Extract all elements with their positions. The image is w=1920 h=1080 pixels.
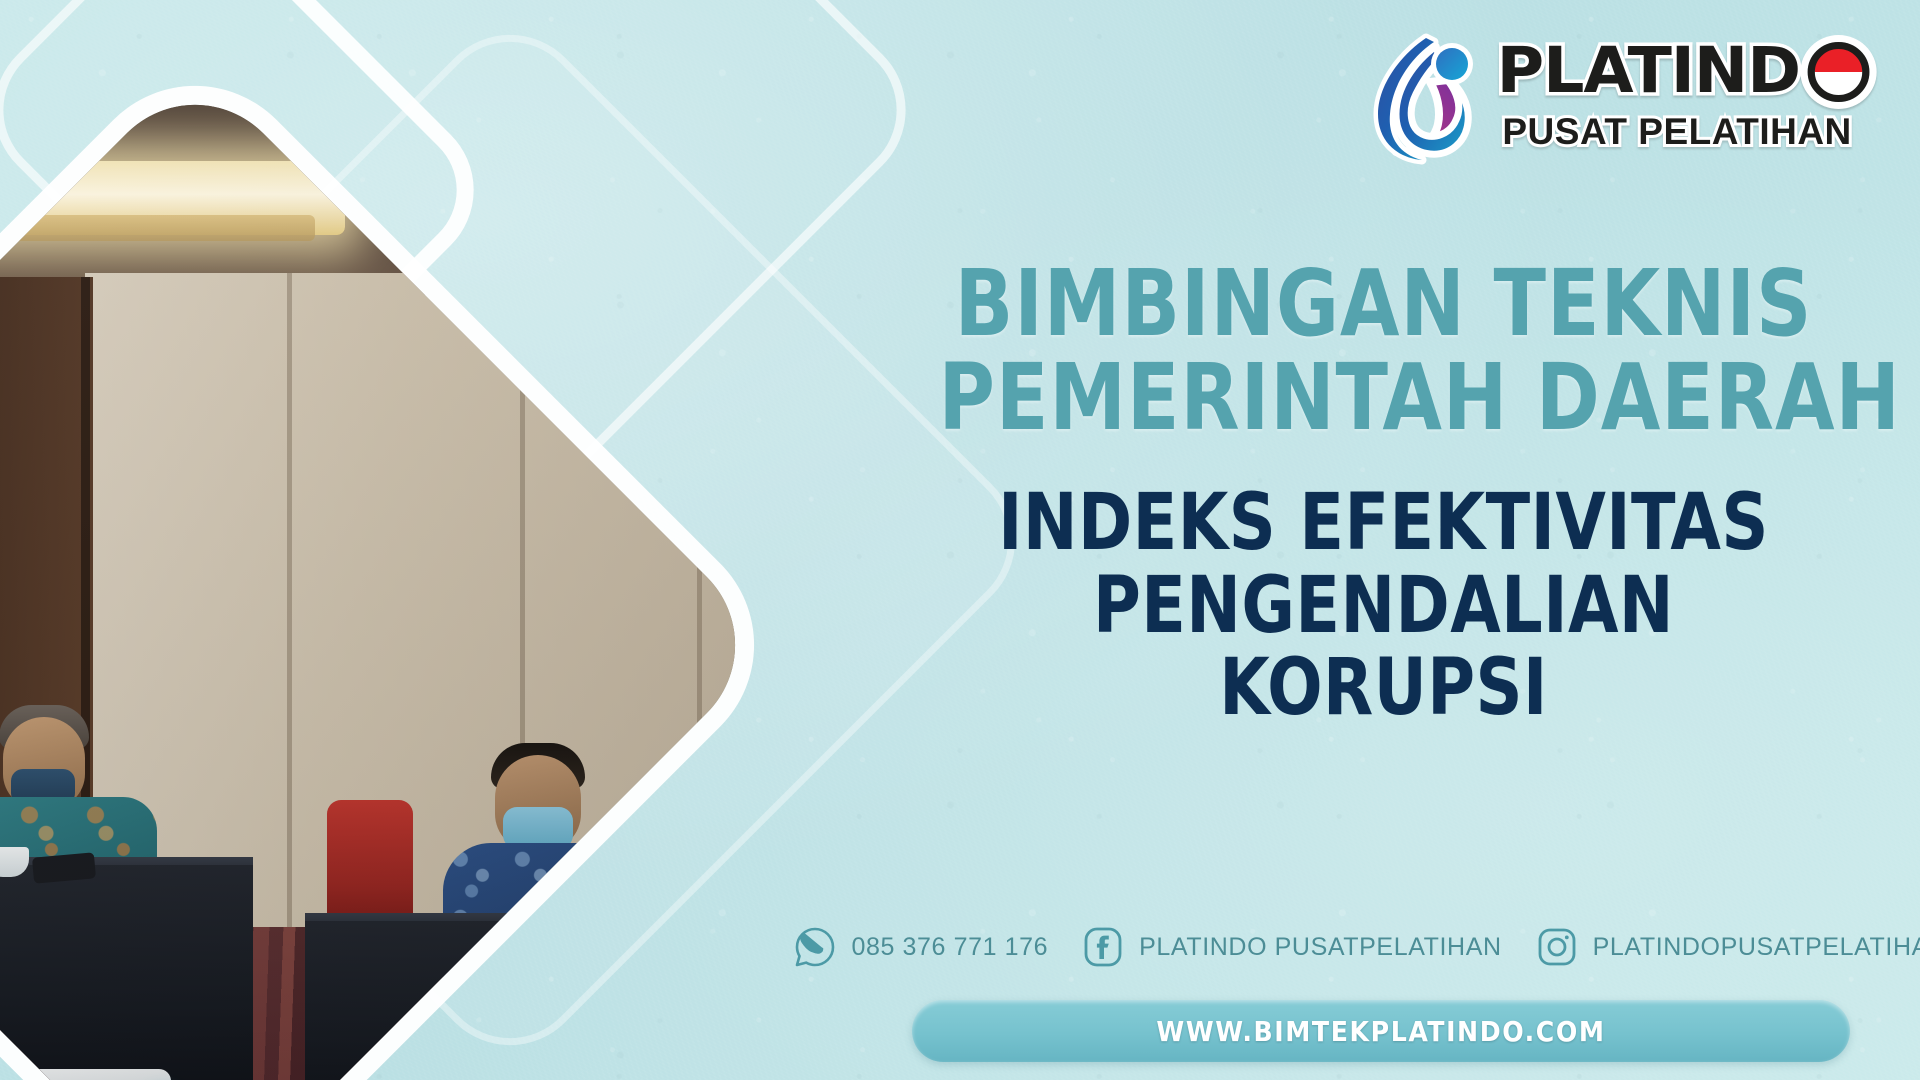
whatsapp-number: 085 376 771 176	[851, 933, 1048, 962]
promotional-banner: PLATIND PUSAT PELATIHAN BIMBINGAN TEKNIS…	[0, 0, 1920, 1080]
platindo-tagline: PUSAT PELATIHAN	[1502, 111, 1851, 153]
subtitle-line-2: PENGENDALIAN	[938, 565, 1828, 648]
subtitle-block: INDEKS EFEKTIVITAS PENGENDALIAN KORUPSI	[905, 482, 1862, 730]
platindo-wordmark: PLATIND	[1497, 42, 1869, 102]
headline-block: BIMBINGAN TEKNIS PEMERINTAH DAERAH INDEK…	[905, 258, 1862, 730]
photo-documents	[492, 990, 684, 1048]
facebook-handle: PLATINDO PUSATPELATIHAN	[1139, 933, 1501, 962]
photo-laptop	[679, 854, 775, 984]
wordmark-letters: PLATIND	[1497, 42, 1800, 101]
website-url: WWW.BIMTEKPLATINDO.COM	[1156, 1015, 1605, 1048]
website-button[interactable]: WWW.BIMTEKPLATINDO.COM	[912, 1000, 1850, 1062]
photo-document-print	[532, 1003, 629, 1030]
platindo-logo[interactable]: PLATIND PUSAT PELATIHAN	[1352, 28, 1864, 166]
whatsapp-icon	[794, 926, 836, 968]
facebook-icon	[1082, 926, 1124, 968]
headline-line-2: PEMERINTAH DAERAH	[938, 352, 1828, 444]
platindo-wordmark-block: PLATIND PUSAT PELATIHAN	[1502, 42, 1864, 153]
contact-whatsapp[interactable]: 085 376 771 176	[794, 926, 1048, 968]
seminar-photo	[0, 65, 775, 1080]
instagram-icon	[1536, 926, 1578, 968]
photo-overlay-shading	[0, 65, 775, 1080]
subtitle-line-1: INDEKS EFEKTIVITAS	[938, 482, 1828, 565]
indonesia-flag-o-icon	[1808, 42, 1870, 102]
instagram-handle: PLATINDOPUSATPELATIHAN	[1593, 933, 1920, 962]
contact-instagram[interactable]: PLATINDOPUSATPELATIHAN	[1536, 926, 1920, 968]
headline-line-1: BIMBINGAN TEKNIS	[938, 258, 1828, 350]
contact-row: 085 376 771 176 PLATINDO PUSATPELATIHAN …	[880, 926, 1862, 968]
subtitle-line-3: KORUPSI	[938, 647, 1828, 730]
contact-facebook[interactable]: PLATINDO PUSATPELATIHAN	[1082, 926, 1501, 968]
photo-laptop-screen	[689, 863, 775, 966]
photo-cup	[661, 933, 703, 961]
seminar-photo-frame	[0, 65, 775, 1080]
photo-participant-arm	[589, 952, 727, 1028]
photo-water-bottle	[623, 881, 645, 963]
platindo-swoosh-logomark	[1352, 28, 1484, 166]
